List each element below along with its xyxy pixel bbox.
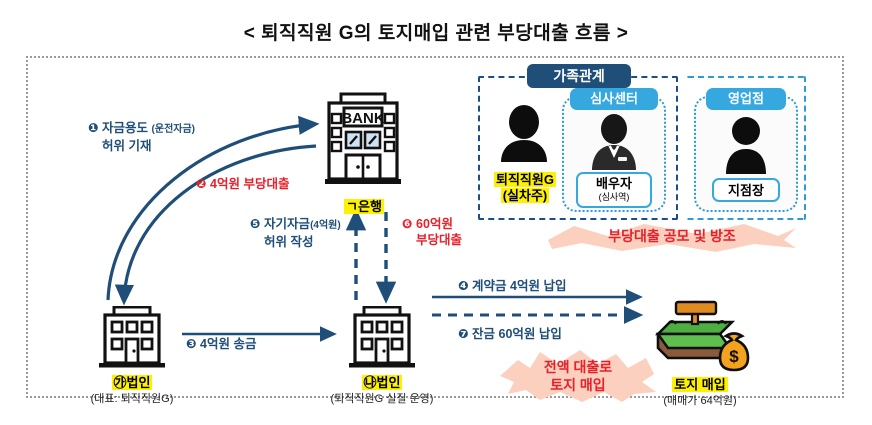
- flow-label-3: ❸ 4억원 송금: [186, 336, 316, 352]
- bank-label: ㄱ은행: [325, 196, 403, 215]
- corp-a-sub: (대표: 퇴직직원G): [52, 390, 212, 406]
- branch-office-pill: 영업점: [706, 88, 786, 110]
- land-plot-money-icon: $: [646, 300, 756, 372]
- svg-text:BANK: BANK: [341, 110, 384, 127]
- flow-6-line2: 부당대출: [416, 232, 462, 248]
- flow-1-paren: (운전자금): [152, 124, 195, 135]
- retiree-name: 퇴직직원G: [494, 172, 556, 187]
- spouse-officer-icon: [588, 114, 640, 177]
- corp-b-sub: (퇴직직원G 실질 운영): [292, 390, 472, 406]
- svg-text:$: $: [729, 347, 739, 366]
- flow-label-7: ❼ 잔금 60억원 납입: [458, 326, 628, 342]
- review-center-pill: 심사센터: [570, 88, 658, 110]
- branch-manager-icon: [720, 116, 772, 179]
- corp-a-building-icon: [92, 306, 172, 368]
- flow-label-6: ❻ 60억원 부당대출: [402, 216, 512, 248]
- land-label-text: 토지 매입: [672, 377, 727, 392]
- spouse-name-plate: 배우자 (심사역): [576, 172, 652, 208]
- flow-5-main: ❺ 자기자금: [250, 217, 310, 231]
- flow-label-1: ❶ 자금용도 (운전자금) 허위 기재: [88, 120, 268, 154]
- corp-b-label-text: ㉯법인: [362, 375, 403, 390]
- loan-burst-line1: 전액 대출로: [544, 359, 612, 375]
- flow-label-5: ❺ 자기자금(4억원) 허위 작성: [250, 216, 370, 250]
- flow-1-main: ❶ 자금용도: [88, 121, 148, 135]
- retiree-role: (실차주): [501, 188, 550, 203]
- flow-1-line2: 허위 기재: [102, 138, 151, 154]
- flow-6-main: ❻ 60억원: [402, 217, 453, 231]
- spouse-name: 배우자: [578, 176, 650, 191]
- retiree-silhouette-icon: [498, 104, 550, 167]
- family-relations-title: 가족관계: [527, 64, 631, 88]
- retiree-label: 퇴직직원G (실차주): [480, 172, 570, 204]
- flow-5-line2: 허위 작성: [264, 234, 313, 250]
- flow-label-4: ❹ 계약금 4억원 납입: [458, 278, 628, 294]
- corp-a-label-text: ㉮법인: [112, 375, 153, 390]
- loan-burst-line2: 토지 매입: [550, 377, 605, 393]
- flow-label-2: ❷ 4억원 부당대출: [196, 176, 336, 192]
- collusion-banner-text: 부당대출 공모 및 방조: [548, 226, 796, 246]
- spouse-role: (심사역): [578, 191, 650, 203]
- page-title: < 퇴직직원 G의 토지매입 관련 부당대출 흐름 >: [0, 18, 872, 45]
- corp-a-label: ㉮법인: [72, 372, 192, 391]
- loan-burst-text: 전액 대출로 토지 매입: [496, 358, 660, 394]
- flow-5-paren: (4억원): [310, 220, 341, 231]
- corp-b-building-icon: [342, 306, 422, 368]
- bank-label-text: ㄱ은행: [344, 199, 384, 214]
- branch-manager-plate: 지점장: [712, 178, 780, 202]
- corp-b-label: ㉯법인: [322, 372, 442, 391]
